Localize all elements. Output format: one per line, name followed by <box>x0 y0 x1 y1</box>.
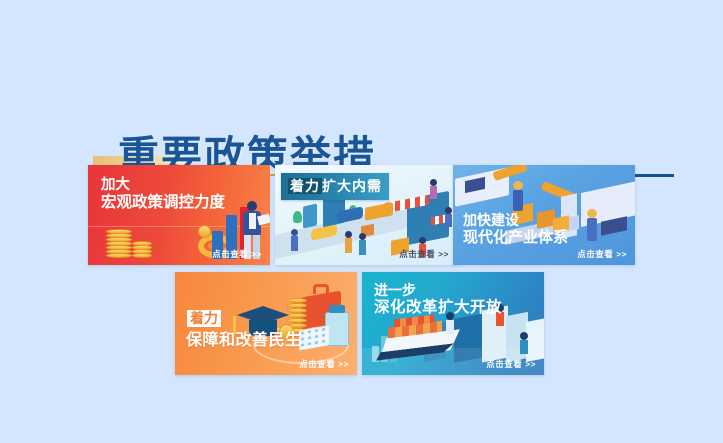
card2-title-banner: 着力扩大内需 <box>281 173 389 200</box>
person-icon <box>359 233 366 255</box>
card2-cta[interactable]: 点击查看 >> <box>399 248 449 260</box>
card-jiada-hongguan[interactable]: 加大 宏观政策调控力度 <box>88 165 270 265</box>
card2-title-line2: 扩大内需 <box>322 178 382 194</box>
card4-title-line1-group: 着力 <box>187 310 221 327</box>
card2-title-line1: 着力 <box>288 178 322 194</box>
tree-icon <box>293 211 302 223</box>
person-icon <box>430 179 437 199</box>
card3-cta[interactable]: 点击查看 >> <box>577 248 627 260</box>
medicine-bottle-cap-icon <box>329 305 345 313</box>
coin-stack-small-icon <box>132 241 152 259</box>
card4-title-line1: 着力 <box>187 310 221 327</box>
card5-title-line2: 深化改革扩大开放 <box>374 299 502 317</box>
card-jiakuai-jianshe[interactable]: 加快建设 现代化产业体系 点击查看 >> <box>453 165 635 265</box>
person-icon <box>291 229 298 251</box>
worker-icon <box>587 209 597 241</box>
card5-cta[interactable]: 点击查看 >> <box>486 358 536 370</box>
card1-title-line2: 宏观政策调控力度 <box>101 194 225 212</box>
page-root: 重要政策举措 及实施效果 加大 宏观政策调控力度 <box>0 0 723 443</box>
worker-icon <box>513 181 523 211</box>
coin-stack-icon <box>106 229 132 259</box>
card-shenhua-gaige[interactable]: 进一步 深化改革扩大开放 点击查看 >> <box>362 272 544 375</box>
card5-title-line1: 进一步 <box>374 282 502 299</box>
coin-icon <box>198 225 211 238</box>
briefcase-handle-icon <box>313 284 329 294</box>
card1-title: 加大 宏观政策调控力度 <box>101 177 225 212</box>
card3-title: 加快建设 现代化产业体系 <box>463 212 568 246</box>
building-icon <box>303 203 317 228</box>
person-icon <box>520 332 528 354</box>
card-baozhang-minsheng[interactable]: 着力 保障和改善民生 点击查看 >> <box>175 272 357 375</box>
card5-title: 进一步 深化改革扩大开放 <box>374 282 502 317</box>
card4-title-line2: 保障和改善民生 <box>186 332 302 351</box>
card3-title-line1: 加快建设 <box>463 212 568 229</box>
person-icon <box>345 231 352 253</box>
card1-cta[interactable]: 点击查看 >> <box>212 248 262 260</box>
card1-title-line1: 加大 <box>101 177 225 194</box>
person-icon <box>445 207 452 227</box>
card-kuoda-neixu[interactable]: 着力扩大内需 点击查看 >> <box>275 165 457 265</box>
robot-arm-icon <box>492 165 527 181</box>
card4-cta[interactable]: 点击查看 >> <box>299 358 349 370</box>
card3-title-line2: 现代化产业体系 <box>463 229 568 247</box>
page-header: 重要政策举措 及实施效果 <box>0 56 723 144</box>
